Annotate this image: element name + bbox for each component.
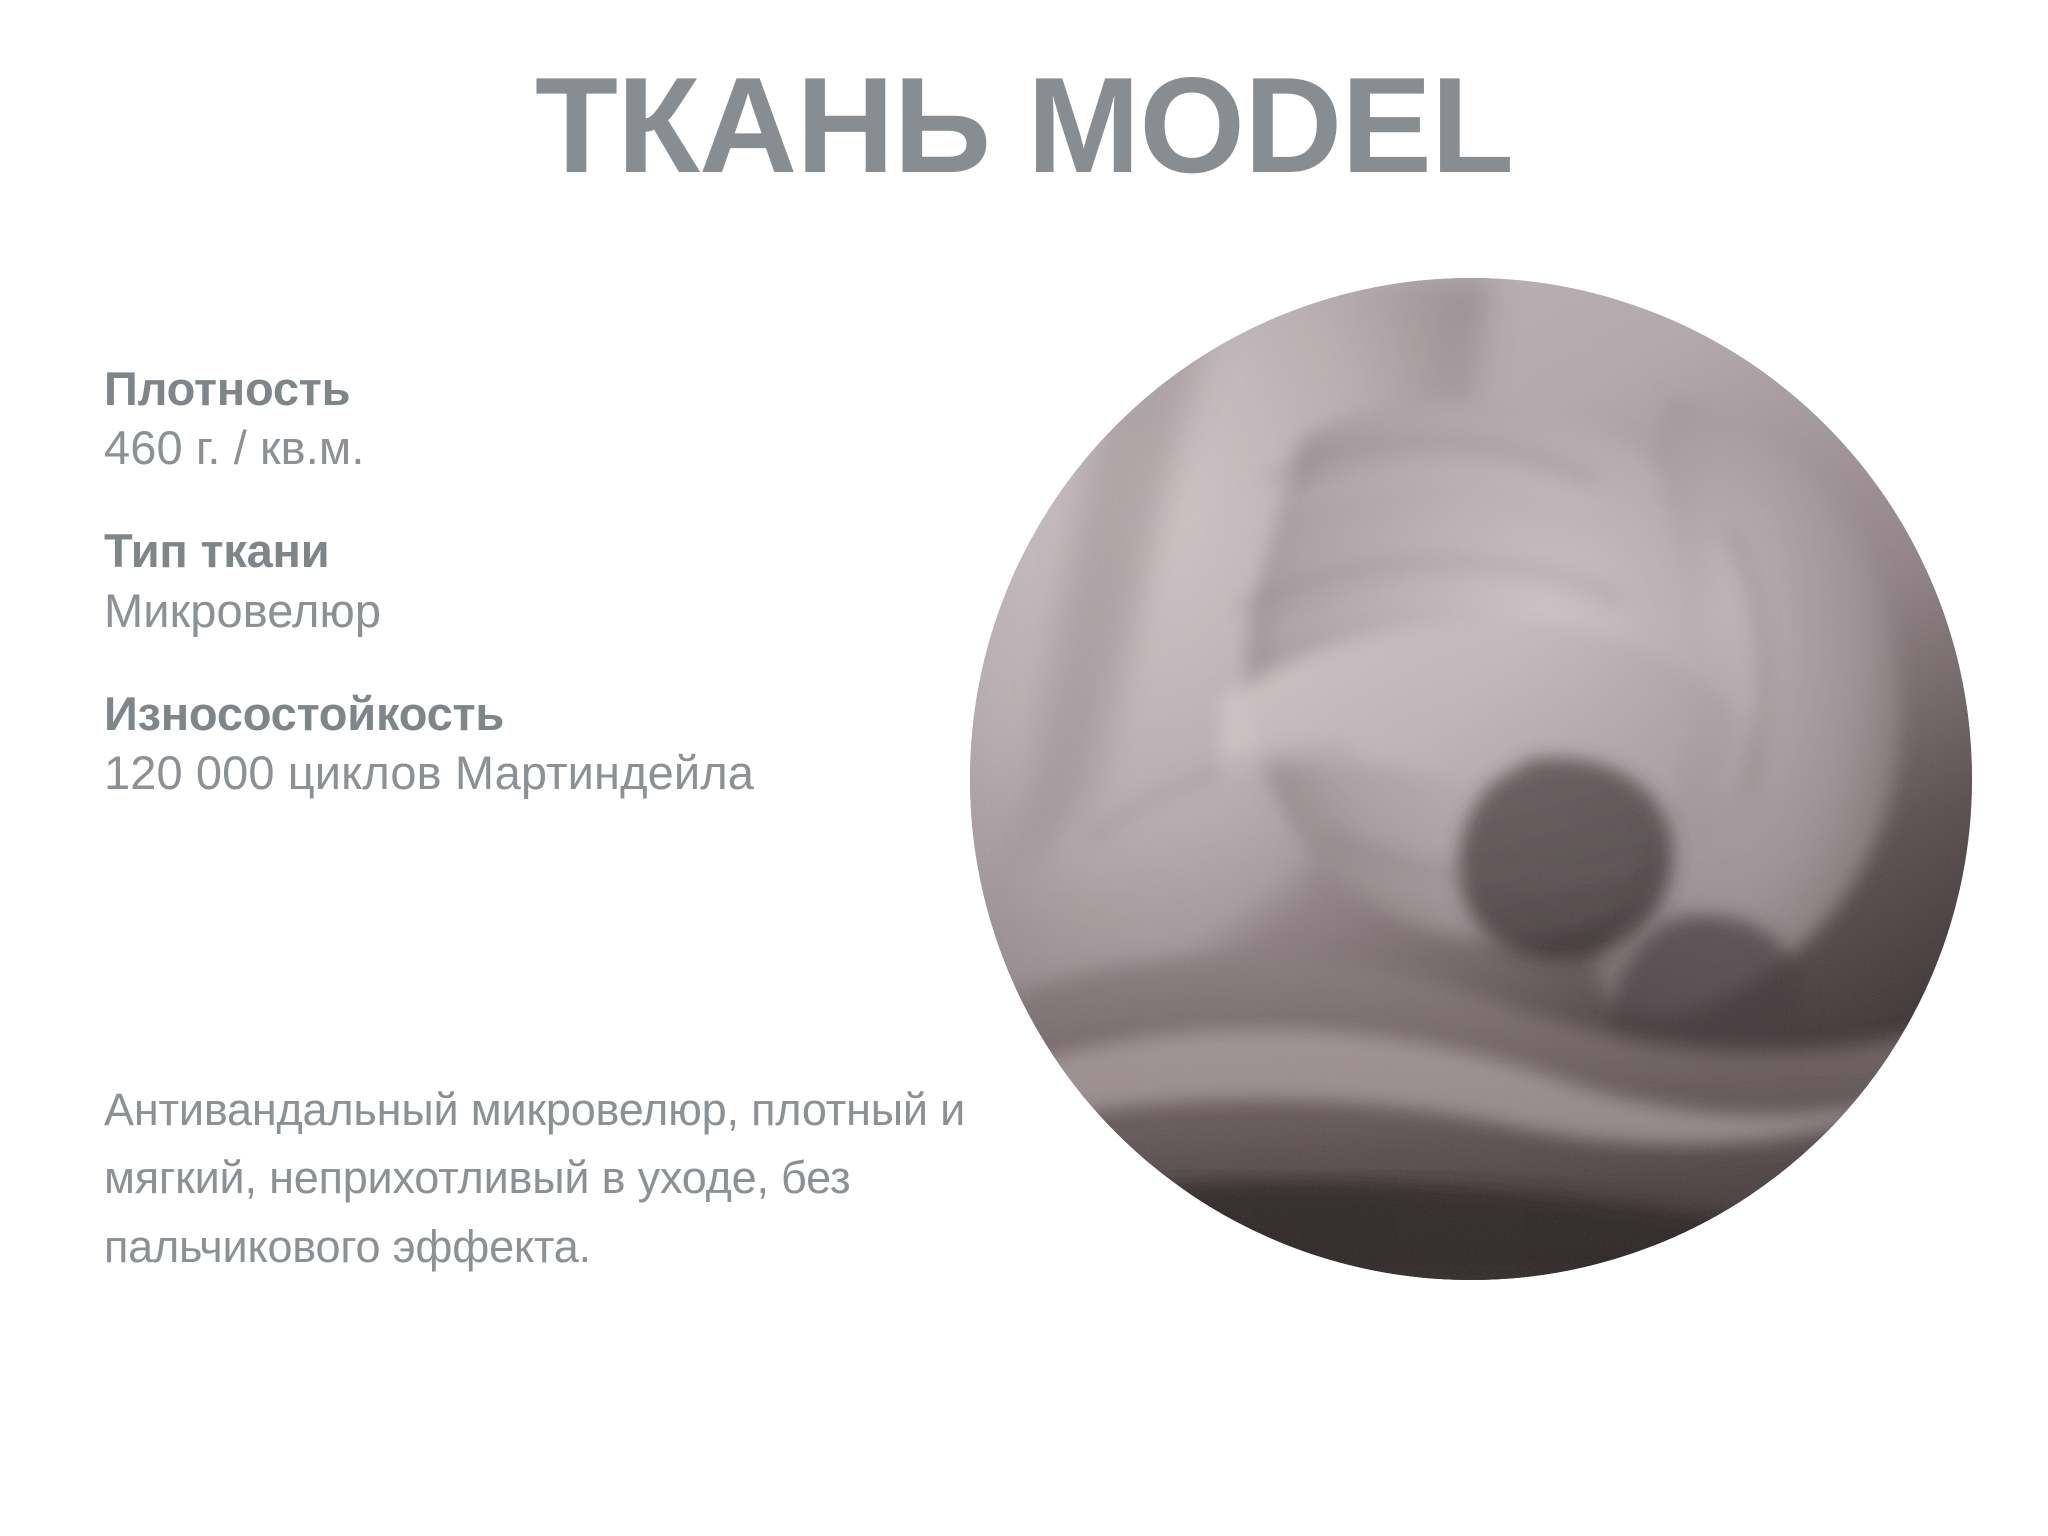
spec-label: Плотность <box>104 360 864 417</box>
fabric-illustration <box>970 278 1972 1280</box>
spec-item-density: Плотность 460 г. / кв.м. <box>104 360 864 478</box>
page-title: ТКАНЬ MODEL <box>0 52 2048 199</box>
spec-label: Износостойкость <box>104 685 864 742</box>
spec-item-fabric-type: Тип ткани Микровелюр <box>104 522 864 640</box>
spec-label: Тип ткани <box>104 522 864 579</box>
slide-root: ТКАНЬ MODEL Плотность 460 г. / кв.м. Тип… <box>0 0 2048 1536</box>
spec-value: Микровелюр <box>104 580 864 641</box>
spec-item-durability: Износостойкость 120 000 циклов Мартиндей… <box>104 685 864 803</box>
spec-list: Плотность 460 г. / кв.м. Тип ткани Микро… <box>104 360 864 803</box>
spec-value: 460 г. / кв.м. <box>104 417 864 478</box>
fabric-swatch-photo <box>970 278 1972 1280</box>
spec-value: 120 000 циклов Мартиндейла <box>104 742 864 803</box>
description-text: Антивандальный микровелюр, плотный и мяг… <box>104 1076 984 1281</box>
